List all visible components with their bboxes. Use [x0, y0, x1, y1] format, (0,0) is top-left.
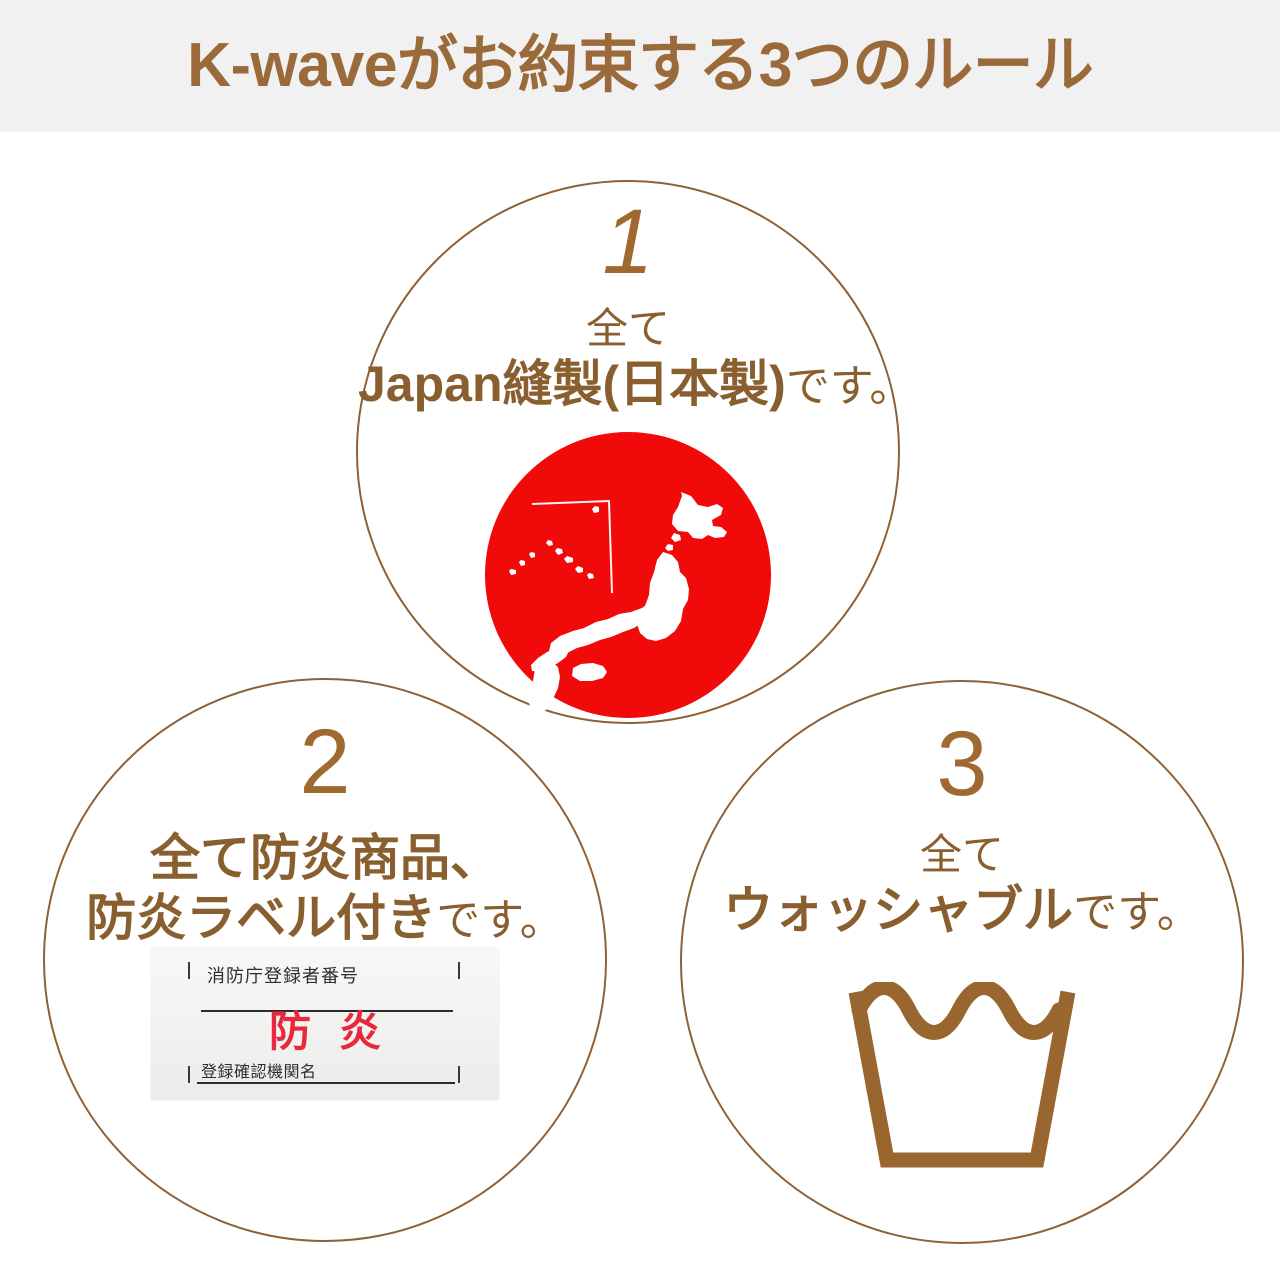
- rule-1-number-wrap: 1: [358, 196, 898, 288]
- rule-1-line2: Japan縫製(日本製)です。: [358, 354, 898, 414]
- washtub-water-wave: [859, 988, 1059, 1033]
- rule-1-line2-suffix: です。: [786, 362, 914, 411]
- rule-3-line2-suffix: です。: [1073, 888, 1201, 937]
- rule-1-line1: 全て: [358, 304, 898, 354]
- flameproof-label-card: 消防庁登録者番号 防炎 登録確認機関名: [151, 948, 499, 1100]
- rule-2-line2: 防炎ラベル付きです。: [45, 888, 605, 948]
- flameproof-label-icon: 消防庁登録者番号 防炎 登録確認機関名: [151, 948, 499, 1100]
- rule-3-text: 全て ウォッシャブルです。: [682, 830, 1242, 940]
- rule-2-line2-suffix: です。: [436, 896, 564, 945]
- washtub-svg: [842, 982, 1082, 1172]
- rule-circle-3: 3 全て ウォッシャブルです。: [680, 680, 1244, 1244]
- rule-1-line2-main: Japan縫製(日本製): [358, 356, 786, 412]
- page-title: K-waveがお約束する3つのルール: [187, 35, 1093, 97]
- label-divider-bottom: [197, 1082, 455, 1084]
- label-confirming-agency-caption: 登録確認機関名: [201, 1058, 317, 1082]
- label-tick-bottom-left: [188, 1066, 190, 1083]
- label-tick-top-right: [458, 962, 460, 979]
- rule-3-line1: 全て: [682, 830, 1242, 880]
- rule-1-number: 1: [602, 191, 653, 293]
- washtub-icon: [842, 982, 1082, 1177]
- rule-2-line2-main: 防炎ラベル付き: [86, 890, 436, 946]
- label-tick-top-left: [188, 962, 190, 979]
- rule-3-line2: ウォッシャブルです。: [682, 880, 1242, 940]
- rule-2-line1: 全て防炎商品、: [45, 828, 605, 888]
- rule-1-text: 全て Japan縫製(日本製)です。: [358, 304, 898, 414]
- rules-stage: 1 全て Japan縫製(日本製)です。: [0, 132, 1280, 1280]
- rule-3-line2-main: ウォッシャブル: [723, 882, 1073, 938]
- japan-flag-map-icon: [485, 432, 771, 718]
- rule-circle-1: 1 全て Japan縫製(日本製)です。: [356, 180, 900, 724]
- flag-red-disc: [485, 432, 771, 718]
- rule-3-number: 3: [936, 713, 987, 815]
- rule-circle-2: 2 全て防炎商品、 防炎ラベル付きです。 消防庁登録者番号 防炎 登録確認機関名: [43, 678, 607, 1242]
- rule-3-number-wrap: 3: [682, 718, 1242, 810]
- rule-2-number-wrap: 2: [45, 716, 605, 808]
- label-registration-number-caption: 消防庁登録者番号: [207, 962, 359, 988]
- rule-2-number: 2: [299, 711, 350, 813]
- rule-2-text: 全て防炎商品、 防炎ラベル付きです。: [45, 828, 605, 948]
- japan-flag-map-svg: [485, 432, 771, 718]
- page-header: K-waveがお約束する3つのルール: [0, 0, 1280, 132]
- label-tick-bottom-right: [458, 1066, 460, 1083]
- label-bouen-stamp: 防炎: [151, 1010, 499, 1054]
